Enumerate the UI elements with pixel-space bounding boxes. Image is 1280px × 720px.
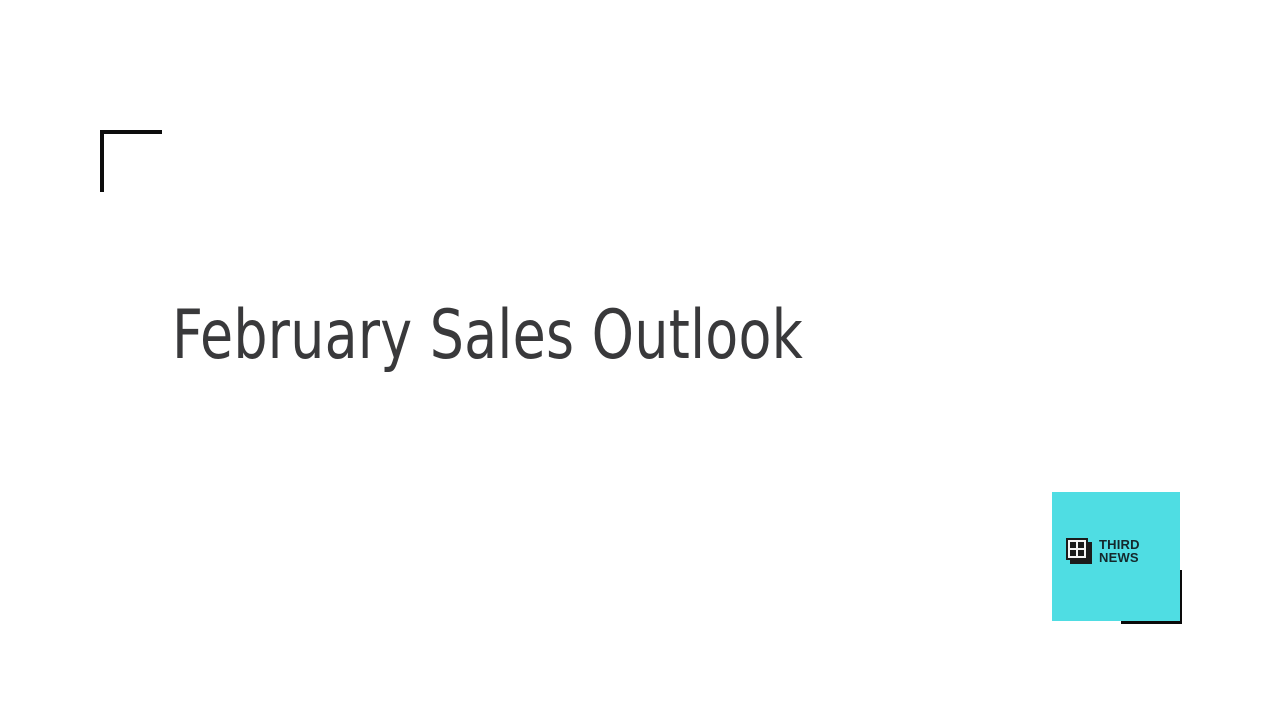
page-title: February Sales Outlook bbox=[172, 300, 964, 371]
brand-wordmark: THIRD NEWS bbox=[1099, 538, 1140, 564]
newspaper-icon-cell-2 bbox=[1078, 542, 1084, 548]
corner-bracket-vertical-arm bbox=[100, 130, 104, 192]
newspaper-icon bbox=[1066, 538, 1092, 564]
logo-content: THIRD NEWS bbox=[1066, 538, 1140, 564]
brand-wordmark-line-2: NEWS bbox=[1099, 551, 1140, 564]
top-left-corner-bracket bbox=[100, 130, 162, 192]
title-block: February Sales Outlook bbox=[172, 300, 1072, 371]
title-slide: February Sales Outlook THIRD NEWS bbox=[0, 0, 1280, 720]
newspaper-icon-cell-1 bbox=[1070, 542, 1076, 548]
newspaper-icon-front-page bbox=[1066, 538, 1088, 560]
corner-bracket-horizontal-arm bbox=[100, 130, 162, 134]
logo-cyan-tile: THIRD NEWS bbox=[1052, 492, 1180, 621]
newspaper-icon-cell-4 bbox=[1078, 550, 1084, 556]
brand-logo-lockup: THIRD NEWS bbox=[1052, 492, 1182, 624]
newspaper-icon-cell-3 bbox=[1070, 550, 1076, 556]
